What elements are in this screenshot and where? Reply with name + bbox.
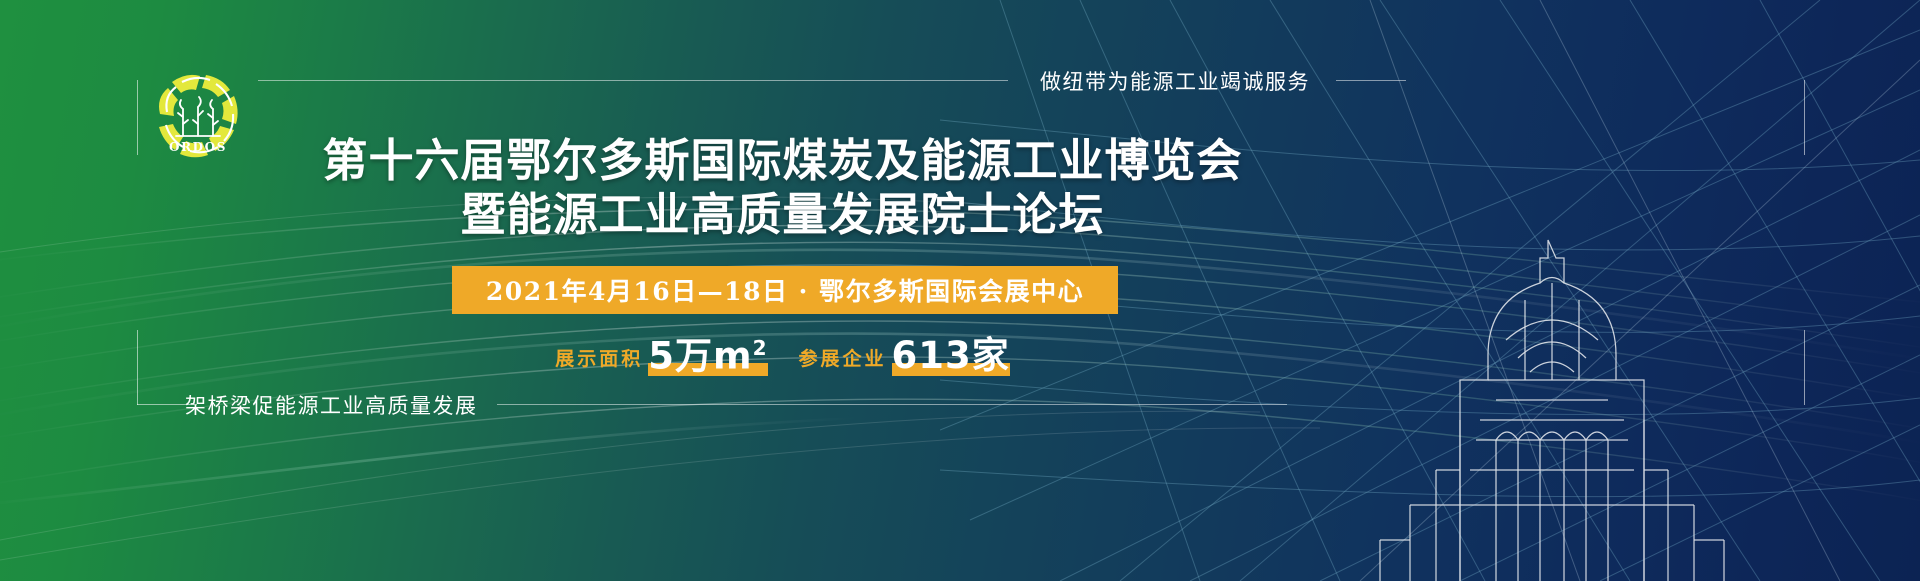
title-line-1: 第十六届鄂尔多斯国际煤炭及能源工业博览会: [0, 134, 1565, 188]
divider-top-right: [1336, 80, 1406, 81]
date-venue-text: 2021年4月16日—18日 · 鄂尔多斯国际会展中心: [486, 272, 1084, 308]
stat-exhibition-area: 展示面积 5万m2: [555, 328, 772, 376]
title-block: 第十六届鄂尔多斯国际煤炭及能源工业博览会 暨能源工业高质量发展院士论坛: [0, 134, 1565, 242]
frame-line-bottom-right: [1804, 330, 1805, 405]
stat-label: 参展企业: [799, 344, 887, 376]
tagline-right: 做纽带为能源工业竭诚服务: [1040, 66, 1310, 96]
divider-bottom: [497, 404, 1287, 405]
stat-value: 613家: [892, 334, 1010, 377]
title-line-2: 暨能源工业高质量发展院士论坛: [0, 188, 1565, 242]
tagline-left: 架桥梁促能源工业高质量发展: [185, 390, 478, 420]
event-banner: ORDOS 做纽带为能源工业竭诚服务 架桥梁促能源工业高质量发展 第十六届鄂尔多…: [0, 0, 1920, 581]
stat-value: 5万m: [648, 334, 752, 377]
stat-exhibitor-count: 参展企业 613家: [799, 336, 1015, 376]
frame-line-bottom-left: [137, 330, 138, 405]
stat-superscript: 2: [753, 336, 768, 360]
date-venue-bar: 2021年4月16日—18日 · 鄂尔多斯国际会展中心: [452, 266, 1118, 314]
frame-line-top-right: [1804, 80, 1805, 155]
stat-label: 展示面积: [555, 344, 643, 376]
stats-row: 展示面积 5万m2 参展企业 613家: [452, 326, 1118, 376]
divider-top-left: [258, 80, 1008, 81]
